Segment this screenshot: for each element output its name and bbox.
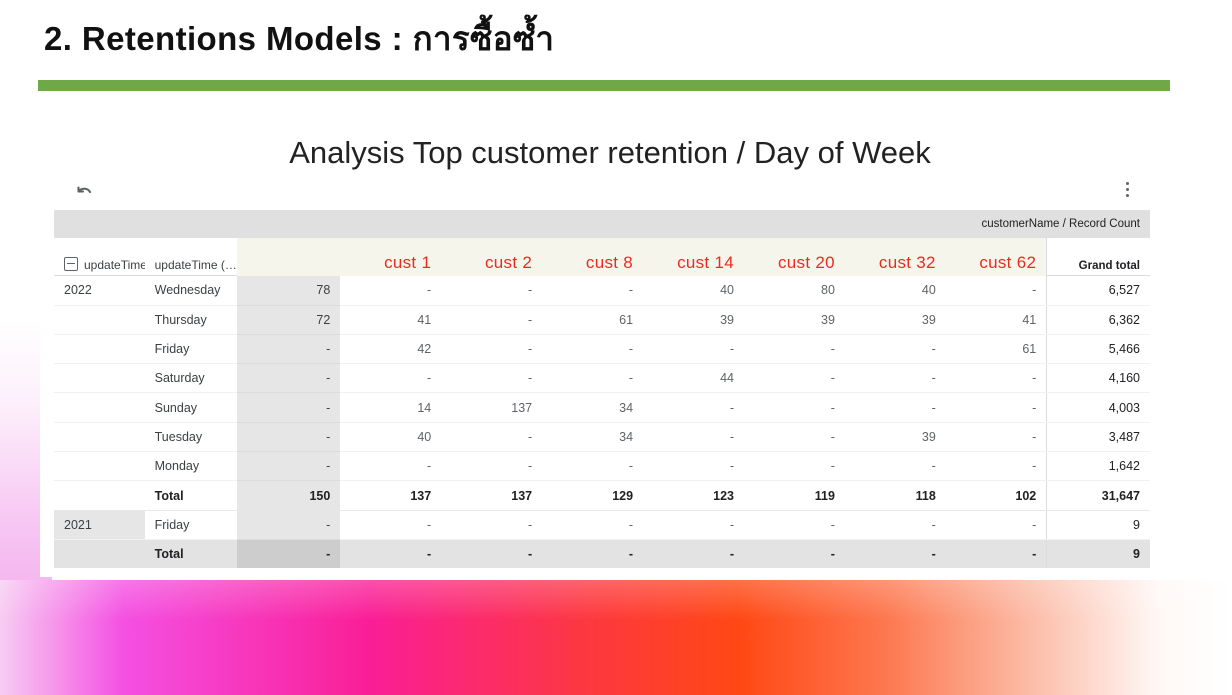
cell-metric-base: - xyxy=(237,422,340,451)
cell-metric-base: - xyxy=(237,452,340,481)
cell-value: - xyxy=(643,422,744,451)
cell-grand-total: 5,466 xyxy=(1047,334,1150,363)
cell-value: - xyxy=(643,393,744,422)
cell-value: - xyxy=(744,539,845,568)
cell-metric-base: - xyxy=(237,393,340,422)
cell-value: - xyxy=(946,276,1047,305)
cell-value: - xyxy=(845,334,946,363)
cell-value: 129 xyxy=(542,481,643,510)
cell-value: - xyxy=(643,334,744,363)
cell-day: Tuesday xyxy=(145,422,238,451)
cell-value: 39 xyxy=(744,305,845,334)
cell-day: Monday xyxy=(145,452,238,481)
cell-grand-total: 9 xyxy=(1047,539,1150,568)
cell-metric-base: 72 xyxy=(237,305,340,334)
table-row[interactable]: 2021Friday--------9 xyxy=(54,510,1150,539)
cell-value: - xyxy=(946,539,1047,568)
cell-value: - xyxy=(744,334,845,363)
column-header-cust-1[interactable]: cust 1 xyxy=(340,238,441,276)
cell-value: - xyxy=(542,452,643,481)
column-header-cust-2[interactable]: cust 2 xyxy=(441,238,542,276)
cell-value: - xyxy=(845,539,946,568)
column-header-grand-total[interactable]: Grand total xyxy=(1047,238,1150,276)
cell-metric-base: 78 xyxy=(237,276,340,305)
cell-day: Thursday xyxy=(145,305,238,334)
cell-value: - xyxy=(441,422,542,451)
table-row[interactable]: Saturday----44---4,160 xyxy=(54,364,1150,393)
cell-value: - xyxy=(542,364,643,393)
column-header-row: updateTime… updateTime (… cust 1 cust 2 … xyxy=(54,238,1150,276)
cell-value: 137 xyxy=(441,481,542,510)
table-row[interactable]: Tuesday-40-34--39-3,487 xyxy=(54,422,1150,451)
cell-year xyxy=(54,393,145,422)
cell-day: Total xyxy=(145,539,238,568)
cell-year: 2022 xyxy=(54,276,145,305)
cell-value: 80 xyxy=(744,276,845,305)
cell-value: 34 xyxy=(542,393,643,422)
table-row[interactable]: Total--------9 xyxy=(54,539,1150,568)
cell-grand-total: 4,003 xyxy=(1047,393,1150,422)
cell-value: - xyxy=(441,334,542,363)
cell-year xyxy=(54,452,145,481)
cell-value: - xyxy=(744,452,845,481)
cell-value: - xyxy=(946,422,1047,451)
cell-value: - xyxy=(340,276,441,305)
cell-value: 39 xyxy=(845,305,946,334)
row-dimension-header-year[interactable]: updateTime… xyxy=(54,238,145,276)
cell-value: - xyxy=(845,510,946,539)
cell-value: - xyxy=(340,364,441,393)
cell-grand-total: 4,160 xyxy=(1047,364,1150,393)
column-header-cust-14[interactable]: cust 14 xyxy=(643,238,744,276)
cell-value: - xyxy=(340,539,441,568)
cell-year xyxy=(54,305,145,334)
cell-value: - xyxy=(340,510,441,539)
cell-value: 41 xyxy=(340,305,441,334)
cell-grand-total: 1,642 xyxy=(1047,452,1150,481)
cell-value: - xyxy=(441,510,542,539)
table-row[interactable]: 2022Wednesday78---408040-6,527 xyxy=(54,276,1150,305)
cell-value: - xyxy=(542,539,643,568)
slide-canvas: 2. Retentions Models : การซื้อซ้ำ Analys… xyxy=(0,0,1232,695)
cell-value: - xyxy=(643,452,744,481)
table-toolbar xyxy=(54,180,1150,210)
cell-value: - xyxy=(845,364,946,393)
title-underline-rule xyxy=(38,80,1170,91)
table-row[interactable]: Total15013713712912311911810231,647 xyxy=(54,481,1150,510)
cell-metric-base: - xyxy=(237,539,340,568)
column-header-blank[interactable] xyxy=(237,238,340,276)
cell-value: 44 xyxy=(643,364,744,393)
cell-value: 118 xyxy=(845,481,946,510)
cell-value: 61 xyxy=(946,334,1047,363)
cell-value: - xyxy=(441,276,542,305)
cell-day: Wednesday xyxy=(145,276,238,305)
cell-value: 40 xyxy=(643,276,744,305)
cell-value: - xyxy=(744,364,845,393)
cell-metric-base: - xyxy=(237,510,340,539)
cell-value: 119 xyxy=(744,481,845,510)
cell-metric-base: - xyxy=(237,334,340,363)
cell-year xyxy=(54,539,145,568)
cell-value: - xyxy=(542,510,643,539)
table-row[interactable]: Friday-42-----615,466 xyxy=(54,334,1150,363)
cell-value: - xyxy=(946,393,1047,422)
cell-day: Total xyxy=(145,481,238,510)
cell-grand-total: 6,527 xyxy=(1047,276,1150,305)
cell-value: - xyxy=(744,510,845,539)
table-row[interactable]: Thursday7241-61393939416,362 xyxy=(54,305,1150,334)
cell-value: 42 xyxy=(340,334,441,363)
cell-value: - xyxy=(340,452,441,481)
column-header-cust-20[interactable]: cust 20 xyxy=(744,238,845,276)
cell-metric-base: 150 xyxy=(237,481,340,510)
cell-value: - xyxy=(845,393,946,422)
cell-value: 41 xyxy=(946,305,1047,334)
cell-grand-total: 6,362 xyxy=(1047,305,1150,334)
cell-day: Friday xyxy=(145,510,238,539)
undo-icon[interactable] xyxy=(72,182,96,206)
collapse-icon[interactable] xyxy=(64,257,78,271)
page-title: 2. Retentions Models : การซื้อซ้ำ xyxy=(44,12,554,65)
cell-value: 40 xyxy=(340,422,441,451)
cell-value: 39 xyxy=(643,305,744,334)
cell-value: - xyxy=(441,364,542,393)
cell-value: 14 xyxy=(340,393,441,422)
cell-value: 137 xyxy=(340,481,441,510)
cell-value: - xyxy=(441,305,542,334)
table-row[interactable]: Sunday-1413734----4,003 xyxy=(54,393,1150,422)
column-header-cust-8[interactable]: cust 8 xyxy=(542,238,643,276)
pivot-table-body: 2022Wednesday78---408040-6,527Thursday72… xyxy=(54,276,1150,568)
cell-value: - xyxy=(744,422,845,451)
chart-title: Analysis Top customer retention / Day of… xyxy=(130,135,1090,171)
cell-value: - xyxy=(542,276,643,305)
cell-value: - xyxy=(946,510,1047,539)
cell-value: 137 xyxy=(441,393,542,422)
cell-value: - xyxy=(744,393,845,422)
metric-band-row: customerName / Record Count xyxy=(54,210,1150,238)
column-header-cust-32[interactable]: cust 32 xyxy=(845,238,946,276)
cell-value: - xyxy=(542,334,643,363)
table-row[interactable]: Monday--------1,642 xyxy=(54,452,1150,481)
metric-band-label: customerName / Record Count xyxy=(54,210,1150,238)
cell-value: - xyxy=(845,452,946,481)
cell-grand-total: 3,487 xyxy=(1047,422,1150,451)
cell-metric-base: - xyxy=(237,364,340,393)
cell-year xyxy=(54,422,145,451)
cell-day: Sunday xyxy=(145,393,238,422)
cell-value: - xyxy=(643,510,744,539)
report-card: Analysis Top customer retention / Day of… xyxy=(40,105,1150,577)
cell-grand-total: 31,647 xyxy=(1047,481,1150,510)
cell-value: 61 xyxy=(542,305,643,334)
cell-value: 40 xyxy=(845,276,946,305)
cell-value: - xyxy=(441,452,542,481)
cell-grand-total: 9 xyxy=(1047,510,1150,539)
column-header-cust-62[interactable]: cust 62 xyxy=(946,238,1047,276)
cell-day: Friday xyxy=(145,334,238,363)
cell-year xyxy=(54,364,145,393)
more-vert-icon[interactable] xyxy=(1118,182,1136,204)
cell-year xyxy=(54,481,145,510)
row-dimension-year-label: updateTime… xyxy=(84,258,145,272)
cell-day: Saturday xyxy=(145,364,238,393)
decorative-gradient-banner xyxy=(0,580,1232,695)
cell-value: - xyxy=(441,539,542,568)
cell-value: 102 xyxy=(946,481,1047,510)
cell-year: 2021 xyxy=(54,510,145,539)
pivot-table-container[interactable]: customerName / Record Count updateTime… … xyxy=(54,210,1150,568)
cell-value: 34 xyxy=(542,422,643,451)
row-dimension-header-day[interactable]: updateTime (… xyxy=(145,238,238,276)
cell-year xyxy=(54,334,145,363)
pivot-table: customerName / Record Count updateTime… … xyxy=(54,210,1150,568)
cell-value: - xyxy=(946,452,1047,481)
cell-value: 123 xyxy=(643,481,744,510)
cell-value: 39 xyxy=(845,422,946,451)
cell-value: - xyxy=(643,539,744,568)
cell-value: - xyxy=(946,364,1047,393)
